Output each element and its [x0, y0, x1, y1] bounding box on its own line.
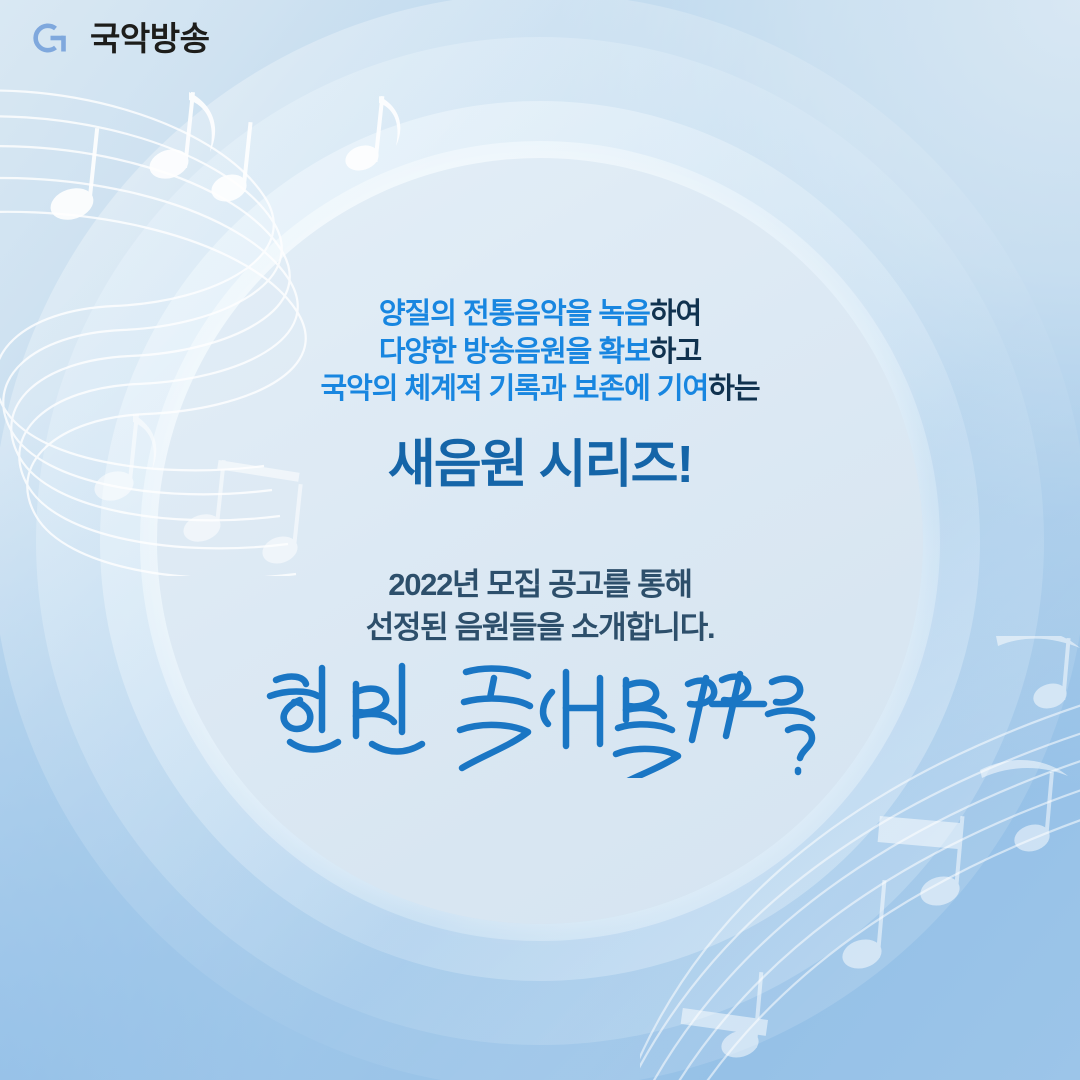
lead-line-2-highlight: 다양한 방송음원을 확보: [379, 336, 650, 368]
lead-line-3-suffix: 하는: [708, 373, 759, 405]
lead-line-2: 다양한 방송음원을 확보하고: [320, 334, 759, 372]
subtext-line-1: 2022년 모집 공고를 통해: [366, 564, 715, 607]
lead-line-3-highlight: 국악의 체계적 기록과 보존에 기여: [320, 373, 708, 405]
gugak-g-mark-icon: [30, 18, 78, 58]
lead-line-1-highlight: 양질의 전통음악을 녹음: [379, 298, 650, 330]
subtext-paragraph: 2022년 모집 공고를 통해 선정된 음원들을 소개합니다.: [366, 564, 715, 650]
brand-name: 국악방송: [90, 22, 209, 55]
page-title: 새음원 시리즈!: [388, 437, 692, 494]
poster-canvas: 국악방송 양질의 전통음악을 녹음하여 다양한 방송음원을 확보하고 국악의 체…: [0, 0, 1080, 1080]
lead-line-1-suffix: 하여: [650, 298, 701, 330]
lead-line-1: 양질의 전통음악을 녹음하여: [320, 296, 759, 334]
poster-content: 양질의 전통음악을 녹음하여 다양한 방송음원을 확보하고 국악의 체계적 기록…: [130, 0, 950, 1080]
subtext-line-2: 선정된 음원들을 소개합니다.: [366, 607, 715, 650]
lead-paragraph: 양질의 전통음악을 녹음하여 다양한 방송음원을 확보하고 국악의 체계적 기록…: [320, 296, 759, 409]
lead-line-2-suffix: 하고: [650, 336, 701, 368]
brand-logo[interactable]: 국악방송: [30, 18, 209, 58]
lead-line-3: 국악의 체계적 기록과 보존에 기여하는: [320, 371, 759, 409]
handwritten-question: 한번 들어볼까요?: [260, 658, 820, 778]
